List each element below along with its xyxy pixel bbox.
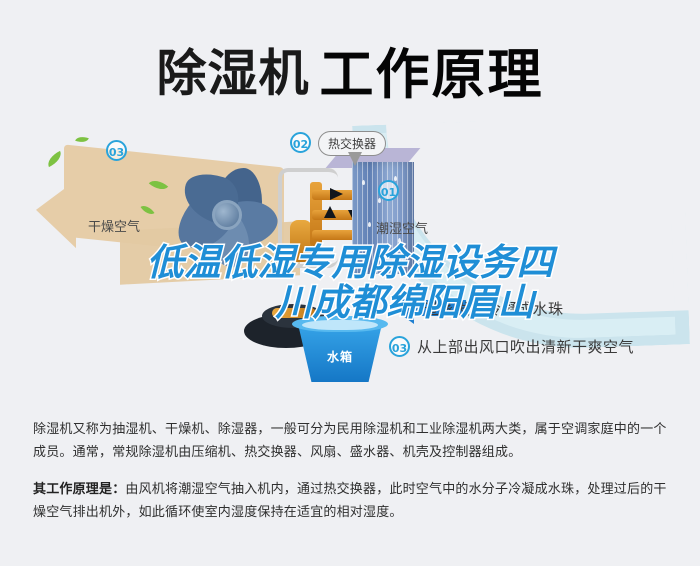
flow-arrow-right-icon <box>330 188 343 200</box>
paragraph-1: 除湿机又称为抽湿机、干燥机、除湿器，一般可分为民用除湿机和工业除湿机两大类，属于… <box>33 418 671 464</box>
callout-number-03: 03 <box>106 140 127 161</box>
page-title: 除湿机工作原理 <box>0 30 700 109</box>
water-bucket-label: 水箱 <box>292 348 388 365</box>
step-text-03: 从上部出风口吹出清新干爽空气 <box>417 336 634 357</box>
leaf-icon <box>75 134 89 145</box>
paragraph-2: 其工作原理是：由风机将潮湿空气抽入机内，通过热交换器，此时空气中的水分子冷凝成水… <box>33 478 671 524</box>
condensation-droplet <box>398 238 401 243</box>
callout-label-dry-air: 干燥空气 <box>88 216 140 235</box>
step-row-02: 过蒸发器冷凝成水珠 <box>424 298 564 319</box>
page-title-part-b: 工作原理 <box>320 43 544 106</box>
flow-arrow-up-icon <box>324 206 336 218</box>
dehumidifier-diagram: 水箱 03 干燥空气 02 热交换器 01 潮湿空气 过蒸发器冷凝成水珠 03 … <box>0 118 700 408</box>
condensation-droplet <box>368 222 371 227</box>
leaf-icon <box>45 151 65 167</box>
condensation-droplet <box>394 176 397 181</box>
step-number-03: 03 <box>389 336 410 357</box>
water-bucket-opening <box>302 320 378 330</box>
fan-hub <box>212 200 242 230</box>
water-bucket: 水箱 <box>292 314 388 384</box>
compressor-tank <box>290 220 312 262</box>
step-row-03: 03 从上部出风口吹出清新干爽空气 <box>389 336 634 357</box>
callout-number-02: 02 <box>290 132 311 153</box>
callout-number-01: 01 <box>378 180 399 201</box>
air-inlet-arrow-head <box>392 292 414 324</box>
page-title-part-a: 除湿机 <box>157 45 310 103</box>
condensation-droplet <box>384 252 387 257</box>
infographic-page: 除湿机工作原理 <box>0 0 700 566</box>
callout-label-humid-air: 潮湿空气 <box>376 218 428 237</box>
dry-air-arrow-tip <box>36 176 76 248</box>
paragraph-2-lead: 其工作原理是： <box>33 482 125 497</box>
callout-bubble-tail <box>348 152 362 166</box>
condensation-droplet <box>362 180 365 185</box>
step-text-02: 过蒸发器冷凝成水珠 <box>424 298 564 319</box>
paragraph-2-text: 由风机将潮湿空气抽入机内，通过热交换器，此时空气中的水分子冷凝成水珠，处理过后的… <box>33 482 667 520</box>
body-copy: 除湿机又称为抽湿机、干燥机、除湿器，一般可分为民用除湿机和工业除湿机两大类，属于… <box>33 418 671 538</box>
fan-illustration <box>168 160 286 272</box>
